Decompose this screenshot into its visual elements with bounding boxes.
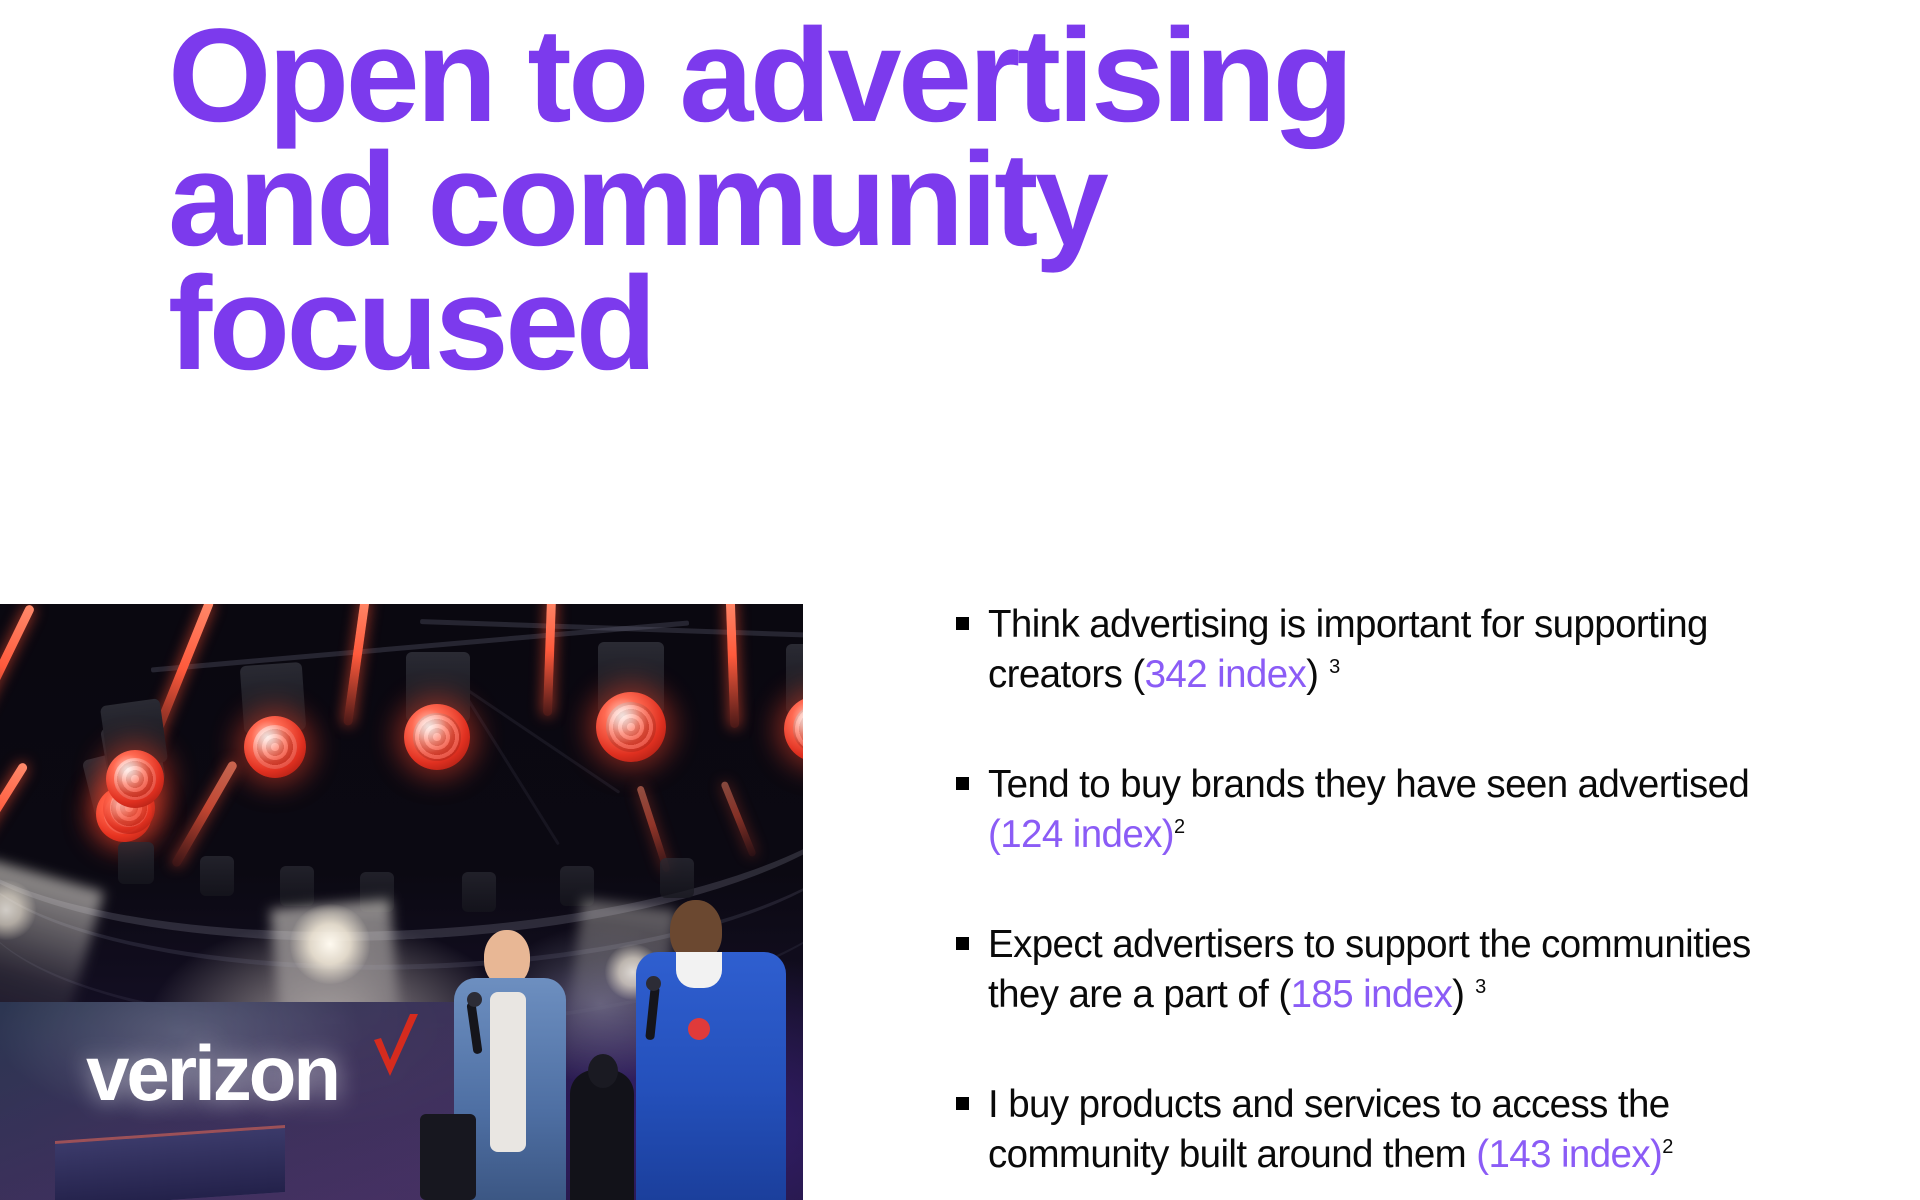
presenter-left-mic-head	[467, 992, 482, 1007]
presenter-right-jersey-patch	[688, 1018, 710, 1040]
title-line-3: focused	[168, 262, 1588, 386]
bullet-1-before: Think advertising is important for suppo…	[988, 603, 1708, 696]
bullet-3-after: )	[1452, 973, 1464, 1016]
square-bullet-icon	[956, 777, 969, 790]
bullet-1-after: )	[1306, 653, 1318, 696]
list-item: Tend to buy brands they have seen advert…	[956, 760, 1796, 860]
presenter-right	[636, 900, 786, 1200]
title-line-2: and community	[168, 138, 1588, 262]
page-title: Open to advertising and community focuse…	[168, 14, 1588, 386]
square-bullet-icon	[956, 1097, 969, 1110]
bullet-text-1: Think advertising is important for suppo…	[988, 600, 1788, 700]
verizon-check-icon	[370, 1012, 422, 1086]
par-light-3	[106, 750, 164, 808]
presenter-right-mic-head	[646, 976, 661, 991]
par-light-4	[244, 716, 306, 778]
bullet-1-footnote: 3	[1329, 656, 1340, 678]
list-item: Expect advertisers to support the commun…	[956, 920, 1796, 1020]
par-housing-9	[200, 856, 234, 896]
bullet-4-index: (143 index)	[1476, 1133, 1662, 1176]
crew-silhouette-head	[588, 1054, 618, 1088]
par-housing-8	[118, 842, 154, 884]
par-light-5	[404, 704, 470, 770]
stage-photo: verizon	[0, 604, 803, 1200]
camera-rig	[420, 1114, 476, 1200]
title-line-1: Open to advertising	[168, 14, 1588, 138]
bullet-3-index: 185 index	[1291, 973, 1453, 1016]
square-bullet-icon	[956, 937, 969, 950]
bullet-4-footnote: 2	[1662, 1136, 1673, 1158]
par-light-6	[596, 692, 666, 762]
bullet-list: Think advertising is important for suppo…	[956, 600, 1796, 1180]
bullet-2-footnote: 2	[1174, 816, 1185, 838]
list-item: I buy products and services to access th…	[956, 1080, 1796, 1180]
bullet-1-index: 342 index	[1145, 653, 1307, 696]
par-housing-14	[660, 858, 694, 898]
bullet-3-footnote: 3	[1475, 976, 1486, 998]
bullet-text-3: Expect advertisers to support the commun…	[988, 920, 1788, 1020]
square-bullet-icon	[956, 617, 969, 630]
presenter-left-shirt	[490, 992, 526, 1152]
presenter-right-jersey-collar	[676, 952, 722, 988]
par-housing-12	[462, 872, 496, 912]
bullet-text-2: Tend to buy brands they have seen advert…	[988, 760, 1788, 860]
par-housing-10	[280, 866, 314, 906]
list-item: Think advertising is important for suppo…	[956, 600, 1796, 700]
crew-silhouette	[570, 1070, 634, 1200]
verizon-logo-text: verizon	[86, 1034, 338, 1112]
spot-dot-center	[290, 904, 370, 984]
bullet-text-4: I buy products and services to access th…	[988, 1080, 1788, 1180]
bullet-2-index: (124 index)	[988, 813, 1174, 856]
bullet-2-before: Tend to buy brands they have seen advert…	[988, 763, 1749, 806]
